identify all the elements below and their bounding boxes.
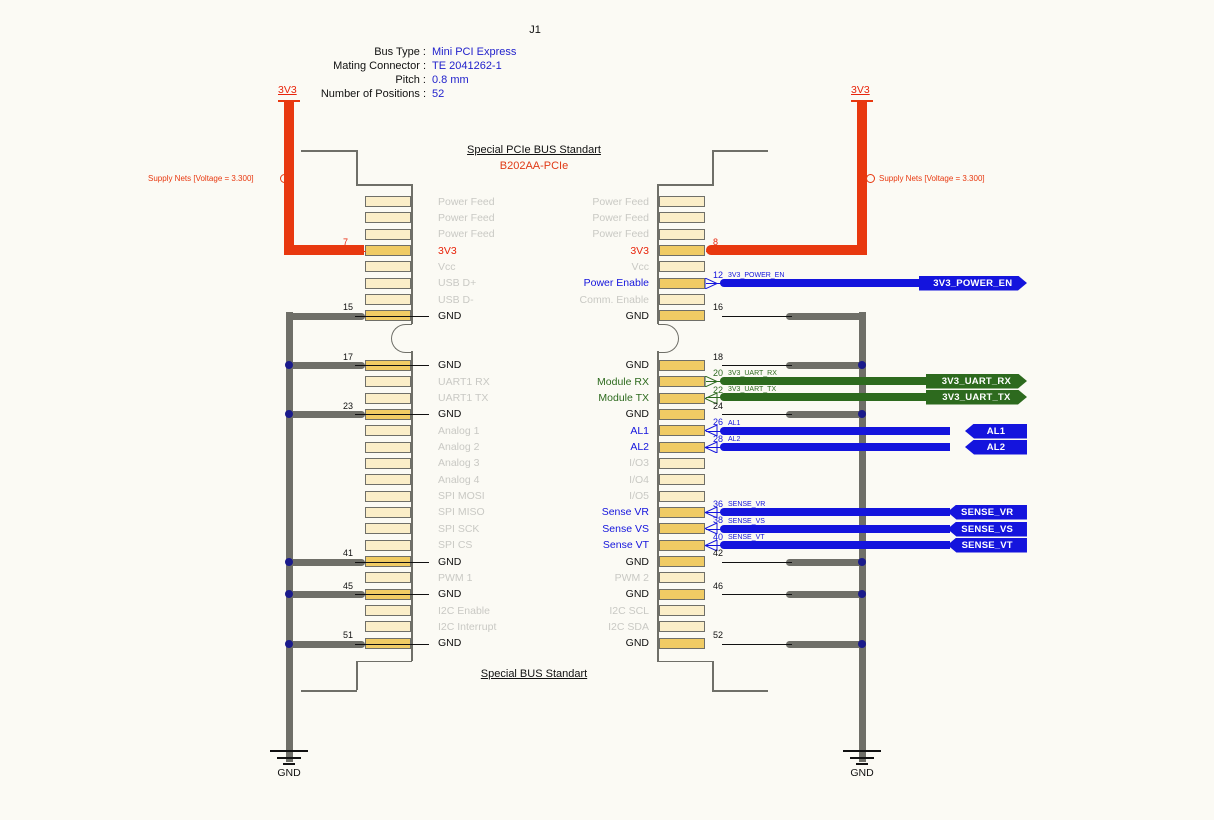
connector-outline — [411, 351, 413, 660]
gnd-lead-left — [355, 562, 429, 563]
connector-pad[interactable] — [365, 458, 411, 469]
connector-pad[interactable] — [365, 540, 411, 551]
connector-outline — [657, 661, 713, 663]
signal-lead — [706, 512, 726, 513]
connector-pad[interactable] — [659, 212, 705, 223]
connector-outline — [712, 661, 714, 690]
gnd-bus-right-top — [859, 312, 866, 320]
connector-pad[interactable] — [659, 425, 705, 436]
connector-outline — [301, 690, 357, 692]
pin8-lead — [706, 251, 766, 252]
connector-pad[interactable] — [365, 491, 411, 502]
signal-lead — [706, 283, 726, 284]
pin-label: AL2 — [499, 442, 649, 453]
net-label[interactable]: 3V3_UART_TX — [926, 390, 1027, 405]
signal-wire — [724, 443, 950, 451]
pin-label: UART1 TX — [438, 393, 488, 404]
pin-label: USB D- — [438, 295, 474, 306]
schematic-canvas: J1 Bus Type :Mini PCI ExpressMating Conn… — [0, 0, 1214, 820]
signal-lead — [706, 529, 726, 530]
gnd-stub-right — [792, 411, 862, 418]
pin-label: I/O3 — [499, 458, 649, 469]
gnd-stub-right — [792, 362, 862, 369]
pin-number: 52 — [713, 630, 723, 640]
signal-wire — [724, 279, 950, 287]
pin-label: Vcc — [438, 262, 456, 273]
gnd-bus-left — [286, 312, 293, 762]
pin-number: 42 — [713, 548, 723, 558]
connector-pad[interactable] — [659, 491, 705, 502]
connector-pad[interactable] — [659, 442, 705, 453]
junction-dot-right — [858, 361, 866, 369]
signal-lead — [706, 397, 726, 398]
connector-pad[interactable] — [659, 196, 705, 207]
signal-lead — [706, 447, 726, 448]
gnd-stub-left — [289, 362, 359, 369]
pin-number: 23 — [343, 401, 353, 411]
pin-label: Sense VR — [499, 507, 649, 518]
gnd-lead-right — [722, 594, 792, 595]
connector-outline — [356, 661, 412, 663]
gnd-stub-right — [792, 559, 862, 566]
connector-pad[interactable] — [365, 523, 411, 534]
junction-dot-right — [858, 590, 866, 598]
pin-label: PWM 2 — [499, 573, 649, 584]
connector-pad[interactable] — [365, 572, 411, 583]
signal-wire — [724, 525, 950, 533]
connector-pad[interactable] — [659, 523, 705, 534]
pin-label: 3V3 — [499, 246, 649, 257]
power-net-label-left: 3V3 — [278, 84, 297, 96]
top-bus-standard-subtitle: B202AA-PCIe — [434, 160, 634, 172]
gnd-stub-right — [792, 641, 862, 648]
connector-pad[interactable] — [365, 229, 411, 240]
pin7-lead — [292, 251, 366, 252]
junction-dot-left — [285, 640, 293, 648]
pin-label: PWM 1 — [438, 573, 472, 584]
pin-label: UART1 RX — [438, 377, 490, 388]
pin-label: GND — [438, 638, 461, 649]
pin-number: 17 — [343, 352, 353, 362]
connector-pad[interactable] — [659, 605, 705, 616]
gnd-lead-right — [722, 414, 792, 415]
power-bar-right — [851, 100, 873, 102]
gnd-stub-right — [792, 591, 862, 598]
net-label[interactable]: 3V3_POWER_EN — [919, 276, 1027, 291]
pin-label: Power Feed — [499, 229, 649, 240]
junction-dot-left — [285, 361, 293, 369]
signal-wire — [724, 541, 950, 549]
pin-label: I2C SCL — [499, 606, 649, 617]
property-value[interactable]: 0.8 mm — [426, 74, 469, 86]
junction-dot-right — [858, 410, 866, 418]
connector-pad[interactable] — [659, 540, 705, 551]
pin-label: SPI CS — [438, 540, 472, 551]
gnd-lead-left — [355, 316, 429, 317]
connector-pad[interactable] — [659, 409, 705, 420]
pin-label: Analog 4 — [438, 475, 479, 486]
connector-pad[interactable] — [365, 294, 411, 305]
connector-pad[interactable] — [365, 245, 411, 256]
connector-outline — [356, 150, 358, 186]
junction-dot-right — [858, 640, 866, 648]
connector-outline — [657, 184, 713, 186]
wire-net-name: AL2 — [728, 436, 740, 443]
supply-note-right: Supply Nets [Voltage = 3.300] — [879, 174, 985, 183]
wire-net-name: SENSE_VS — [728, 518, 765, 525]
pin-label: I2C Interrupt — [438, 622, 496, 633]
pin-label: I2C Enable — [438, 606, 490, 617]
junction-dot-left — [285, 558, 293, 566]
wire-net-name: SENSE_VR — [728, 501, 765, 508]
pin-label: GND — [499, 409, 649, 420]
ground-label-left: GND — [249, 767, 329, 779]
connector-outline — [356, 661, 358, 690]
pin-number: 18 — [713, 352, 723, 362]
signal-wire — [724, 508, 950, 516]
pin-label: SPI SCK — [438, 524, 479, 535]
connector-pad[interactable] — [365, 621, 411, 632]
power-rail-right-cap — [706, 245, 726, 255]
connector-pad[interactable] — [659, 294, 705, 305]
connector-pad[interactable] — [659, 621, 705, 632]
connector-designator: J1 — [470, 24, 600, 36]
connector-pad[interactable] — [365, 212, 411, 223]
property-row: Pitch :0.8 mm — [280, 74, 700, 86]
power-rail-left-horizontal — [284, 245, 364, 255]
connector-pad[interactable] — [659, 474, 705, 485]
connector-pad[interactable] — [659, 310, 705, 321]
pin-label: Sense VT — [499, 540, 649, 551]
gnd-stub-left — [289, 641, 359, 648]
signal-wire — [724, 393, 950, 401]
wire-net-name: 3V3_POWER_EN — [728, 272, 784, 279]
signal-wire — [724, 377, 950, 385]
connector-pad[interactable] — [659, 589, 705, 600]
connector-pad[interactable] — [659, 638, 705, 649]
connector-pad[interactable] — [365, 196, 411, 207]
signal-wire — [724, 427, 950, 435]
pin-label: Sense VS — [499, 524, 649, 535]
power-net-label-right: 3V3 — [851, 84, 870, 96]
pin-label: Power Feed — [499, 197, 649, 208]
property-row: Number of Positions :52 — [280, 88, 700, 100]
property-value[interactable]: TE 2041262-1 — [426, 60, 502, 72]
net-label[interactable]: AL1 — [965, 424, 1027, 439]
pin-label: I/O5 — [499, 491, 649, 502]
pin-label: Power Enable — [499, 278, 649, 289]
signal-lead — [706, 545, 726, 546]
top-bus-standard-title: Special PCIe BUS Standart — [434, 144, 634, 156]
pin-label: Module RX — [499, 377, 649, 388]
connector-pad[interactable] — [365, 474, 411, 485]
power-bar-left — [278, 100, 300, 102]
supply-note-left: Supply Nets [Voltage = 3.300] — [148, 174, 254, 183]
connector-pad[interactable] — [659, 360, 705, 371]
connector-pad[interactable] — [659, 376, 705, 387]
connector-pad[interactable] — [365, 507, 411, 518]
connector-polarity-notch — [658, 324, 679, 353]
pin-label: Module TX — [499, 393, 649, 404]
pin-number: 45 — [343, 581, 353, 591]
gnd-lead-right — [722, 316, 792, 317]
connector-pad[interactable] — [659, 507, 705, 518]
gnd-lead-left — [355, 594, 429, 595]
gnd-lead-left — [355, 365, 429, 366]
supply-marker-right — [866, 174, 875, 183]
property-key: Mating Connector : — [280, 60, 426, 72]
net-label[interactable]: SENSE_VT — [947, 538, 1027, 553]
pin-label: AL1 — [499, 426, 649, 437]
pin-label: GND — [499, 589, 649, 600]
connector-pad[interactable] — [659, 572, 705, 583]
connector-pad[interactable] — [365, 261, 411, 272]
property-value[interactable]: Mini PCI Express — [426, 46, 516, 58]
connector-outline — [712, 690, 768, 692]
pin-label: Analog 1 — [438, 426, 479, 437]
pin-number: 16 — [713, 302, 723, 312]
connector-pad[interactable] — [659, 245, 705, 256]
junction-dot-left — [285, 410, 293, 418]
pin-label: 3V3 — [438, 246, 457, 257]
signal-lead — [706, 431, 726, 432]
connector-pad[interactable] — [659, 278, 705, 289]
pin-label: Power Feed — [438, 197, 495, 208]
signal-lead — [706, 381, 726, 382]
gnd-stub-right — [792, 313, 862, 320]
net-label[interactable]: SENSE_VS — [947, 522, 1027, 537]
power-rail-right-horizontal — [712, 245, 867, 255]
pin-number: 15 — [343, 302, 353, 312]
property-key: Pitch : — [280, 74, 426, 86]
property-key: Bus Type : — [280, 46, 426, 58]
net-label[interactable]: AL2 — [965, 440, 1027, 455]
pin-label: GND — [438, 311, 461, 322]
pin-label: GND — [499, 311, 649, 322]
connector-pad[interactable] — [659, 229, 705, 240]
pin-label: USB D+ — [438, 278, 476, 289]
wire-net-name: 3V3_UART_TX — [728, 386, 776, 393]
gnd-lead-right — [722, 365, 792, 366]
pin-label: GND — [499, 360, 649, 371]
connector-outline — [712, 150, 714, 186]
property-row: Mating Connector :TE 2041262-1 — [280, 60, 700, 72]
pin-label: GND — [499, 638, 649, 649]
gnd-lead-left — [355, 644, 429, 645]
pin-label: SPI MOSI — [438, 491, 485, 502]
gnd-stub-left — [289, 559, 359, 566]
connector-outline — [712, 150, 768, 152]
pin-number: 51 — [343, 630, 353, 640]
pin-number: 24 — [713, 401, 723, 411]
property-key: Number of Positions : — [280, 88, 426, 100]
pin-number: 41 — [343, 548, 353, 558]
connector-pad[interactable] — [659, 261, 705, 272]
connector-pad[interactable] — [365, 605, 411, 616]
pin-label: GND — [438, 409, 461, 420]
connector-pad[interactable] — [659, 458, 705, 469]
pin-label: Analog 3 — [438, 458, 479, 469]
pin-label: Power Feed — [438, 213, 495, 224]
gnd-lead-right — [722, 562, 792, 563]
connector-outline — [301, 150, 357, 152]
connector-pad[interactable] — [659, 556, 705, 567]
pin-label: Vcc — [499, 262, 649, 273]
connector-pad[interactable] — [365, 425, 411, 436]
connector-properties: Bus Type :Mini PCI ExpressMating Connect… — [280, 46, 700, 102]
net-label[interactable]: SENSE_VR — [947, 505, 1027, 520]
connector-pad[interactable] — [365, 376, 411, 387]
connector-outline — [356, 184, 412, 186]
pin-label: Power Feed — [499, 213, 649, 224]
property-value[interactable]: 52 — [426, 88, 444, 100]
supply-marker-left — [280, 174, 289, 183]
gnd-lead-right — [722, 644, 792, 645]
pin-label: I/O4 — [499, 475, 649, 486]
pin-label: GND — [438, 360, 461, 371]
pin-label: SPI MISO — [438, 507, 485, 518]
pin-label: GND — [438, 557, 461, 568]
connector-polarity-notch — [391, 324, 412, 353]
pin-label: GND — [499, 557, 649, 568]
wire-net-name: 3V3_UART_RX — [728, 370, 777, 377]
pin-label: Analog 2 — [438, 442, 479, 453]
ground-label-right: GND — [822, 767, 902, 779]
pin-label: GND — [438, 589, 461, 600]
bottom-bus-standard-title: Special BUS Standart — [434, 668, 634, 680]
connector-pad[interactable] — [365, 393, 411, 404]
junction-dot-right — [858, 558, 866, 566]
connector-pad[interactable] — [365, 442, 411, 453]
wire-net-name: SENSE_VT — [728, 534, 765, 541]
gnd-stub-left — [289, 313, 359, 320]
property-row: Bus Type :Mini PCI Express — [280, 46, 700, 58]
connector-pad[interactable] — [659, 393, 705, 404]
connector-outline — [411, 184, 413, 324]
gnd-stub-left — [289, 411, 359, 418]
gnd-lead-left — [355, 414, 429, 415]
pin-label: I2C SDA — [499, 622, 649, 633]
pin-label: Power Feed — [438, 229, 495, 240]
connector-pad[interactable] — [365, 278, 411, 289]
wire-net-name: AL1 — [728, 420, 740, 427]
junction-dot-left — [285, 590, 293, 598]
pin-number: 46 — [713, 581, 723, 591]
net-label[interactable]: 3V3_UART_RX — [926, 374, 1027, 389]
pin-label: Comm. Enable — [499, 295, 649, 306]
gnd-stub-left — [289, 591, 359, 598]
